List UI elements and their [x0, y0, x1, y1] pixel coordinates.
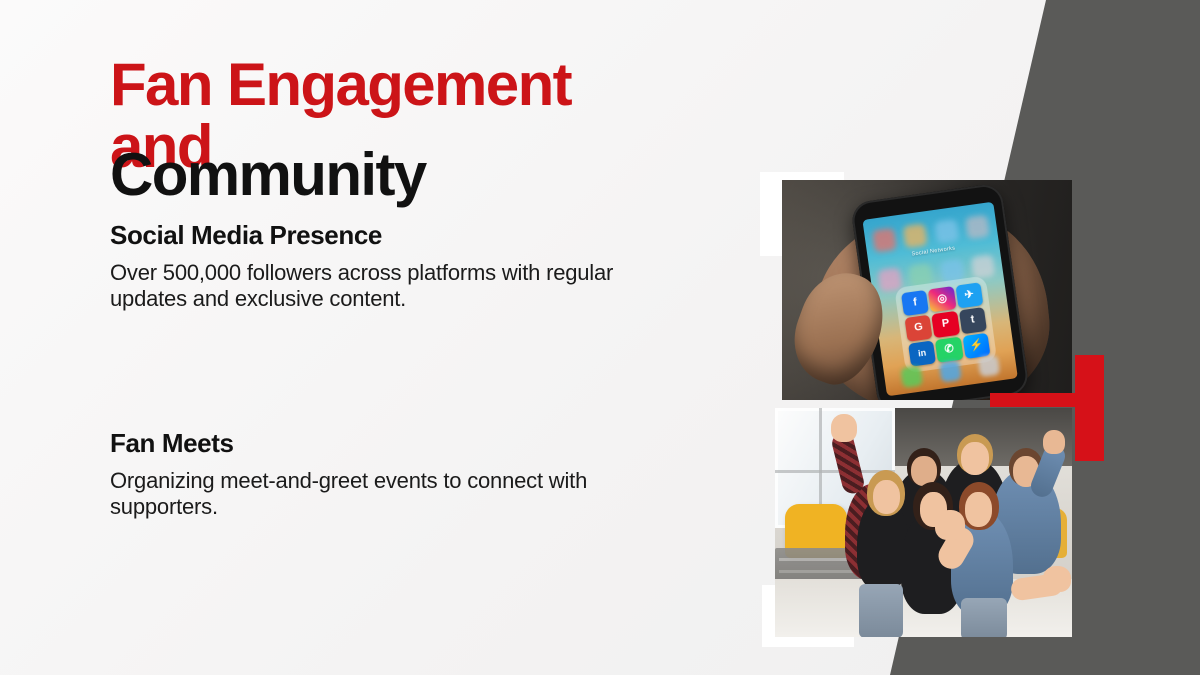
- slide-canvas: Fan Engagement and Community Social Medi…: [0, 0, 1200, 675]
- waving-hand: [1043, 430, 1065, 454]
- facebook-icon: f: [901, 290, 929, 317]
- person-face: [873, 480, 900, 514]
- title-line-primary: Fan Engagement: [110, 52, 571, 118]
- page-title: Fan Engagement and Community: [110, 52, 730, 202]
- red-bar-accent: [990, 393, 1103, 407]
- smartphone-screen: Social Networks f ◎ ✈ G P t in ✆: [862, 202, 1017, 397]
- twitter-icon: ✈: [955, 282, 983, 309]
- open-hand: [1043, 566, 1071, 592]
- section-body: Over 500,000 followers across platforms …: [110, 260, 650, 312]
- waving-hand: [831, 414, 857, 442]
- person-face: [961, 442, 989, 475]
- pinterest-icon: P: [932, 311, 960, 338]
- title-line-secondary: Community: [110, 142, 426, 208]
- section-heading: Social Media Presence: [110, 220, 650, 250]
- photo-group-of-friends: [775, 408, 1072, 637]
- legs: [961, 598, 1007, 637]
- legs: [859, 584, 903, 637]
- section-fan-meets: Fan Meets Organizing meet-and-greet even…: [110, 428, 650, 520]
- section-social-media-presence: Social Media Presence Over 500,000 follo…: [110, 220, 650, 312]
- waving-hand: [935, 510, 965, 540]
- section-heading: Fan Meets: [110, 428, 650, 458]
- photo-phone-social-apps: Social Networks f ◎ ✈ G P t in ✆: [782, 180, 1072, 400]
- tumblr-icon: t: [959, 307, 987, 334]
- person-face: [965, 492, 992, 527]
- section-body: Organizing meet-and-greet events to conn…: [110, 468, 650, 520]
- instagram-icon: ◎: [928, 286, 956, 313]
- google-plus-icon: G: [905, 315, 933, 342]
- red-rectangle-accent: [1075, 355, 1104, 461]
